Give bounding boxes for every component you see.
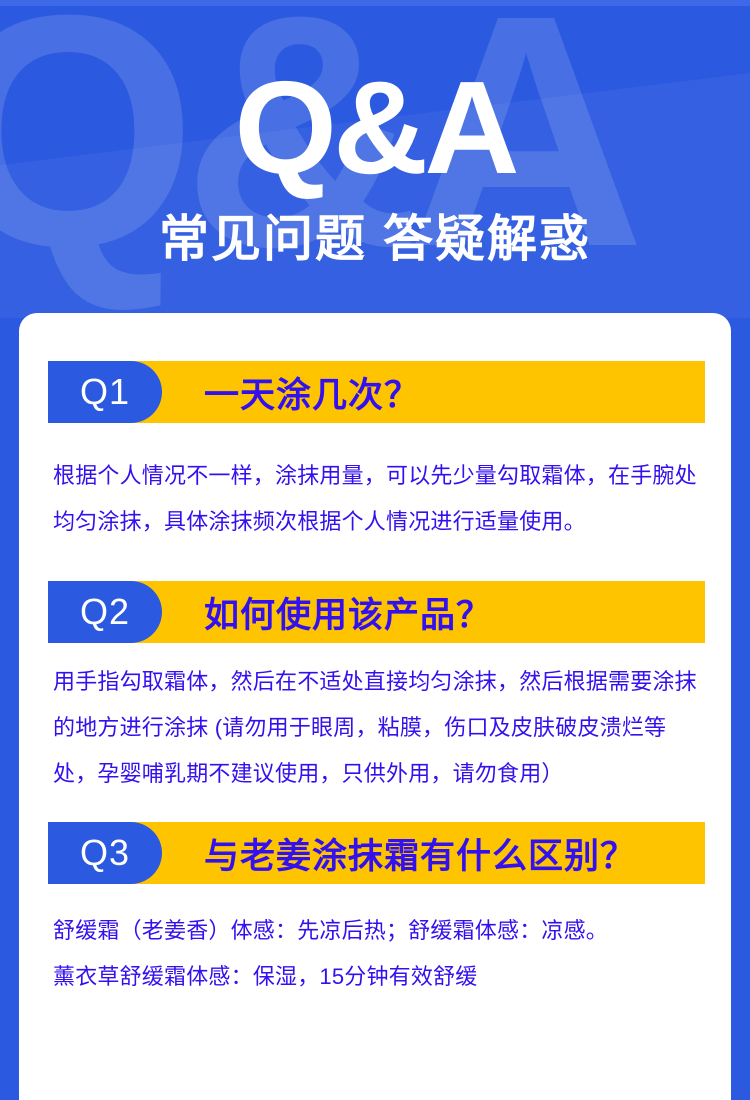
hero-header: Q&A Q&A 常见问题 答疑解惑 xyxy=(0,0,750,318)
question-badge-q3: Q3 xyxy=(48,822,162,884)
answer-line: 根据个人情况不一样，涂抹用量，可以先少量勾取霜体，在手腕处均匀涂抹，具体涂抹频次… xyxy=(53,453,702,545)
answer-line: 舒缓霜（老姜香）体感：先凉后热；舒缓霜体感：凉感。 xyxy=(53,908,702,954)
question-title-q1: 一天涂几次？ xyxy=(162,367,705,418)
question-title-q3: 与老姜涂抹霜有什么区别？ xyxy=(162,828,705,879)
answer-line: 薰衣草舒缓霜体感：保湿，15分钟有效舒缓 xyxy=(53,954,702,1000)
page-title: Q&A xyxy=(234,62,515,194)
answer-q1: 根据个人情况不一样，涂抹用量，可以先少量勾取霜体，在手腕处均匀涂抹，具体涂抹频次… xyxy=(53,423,702,545)
faq-item-q2: Q2 如何使用该产品？ 用手指勾取霜体，然后在不适处直接均匀涂抹，然后根据需要涂… xyxy=(19,545,731,797)
faq-item-q1: Q1 一天涂几次？ 根据个人情况不一样，涂抹用量，可以先少量勾取霜体，在手腕处均… xyxy=(19,313,731,545)
question-title-q2: 如何使用该产品？ xyxy=(162,587,705,638)
question-bar-q3[interactable]: Q3 与老姜涂抹霜有什么区别？ xyxy=(48,822,705,884)
answer-line: 用手指勾取霜体，然后在不适处直接均匀涂抹，然后根据需要涂抹的地方进行涂抹 (请勿… xyxy=(53,659,702,797)
answer-q2: 用手指勾取霜体，然后在不适处直接均匀涂抹，然后根据需要涂抹的地方进行涂抹 (请勿… xyxy=(53,643,702,797)
question-bar-q2[interactable]: Q2 如何使用该产品？ xyxy=(48,581,705,643)
question-badge-q1: Q1 xyxy=(48,361,162,423)
answer-q3: 舒缓霜（老姜香）体感：先凉后热；舒缓霜体感：凉感。 薰衣草舒缓霜体感：保湿，15… xyxy=(53,884,702,1000)
question-bar-q1[interactable]: Q1 一天涂几次？ xyxy=(48,361,705,423)
faq-item-q3: Q3 与老姜涂抹霜有什么区别？ 舒缓霜（老姜香）体感：先凉后热；舒缓霜体感：凉感… xyxy=(19,797,731,1000)
page-subtitle: 常见问题 答疑解惑 xyxy=(159,210,591,268)
faq-card: Q1 一天涂几次？ 根据个人情况不一样，涂抹用量，可以先少量勾取霜体，在手腕处均… xyxy=(19,313,731,1100)
qa-page: Q&A Q&A 常见问题 答疑解惑 Q1 一天涂几次？ 根据个人情况不一样，涂抹… xyxy=(0,0,750,1100)
faq-list: Q1 一天涂几次？ 根据个人情况不一样，涂抹用量，可以先少量勾取霜体，在手腕处均… xyxy=(19,313,731,1000)
question-badge-q2: Q2 xyxy=(48,581,162,643)
